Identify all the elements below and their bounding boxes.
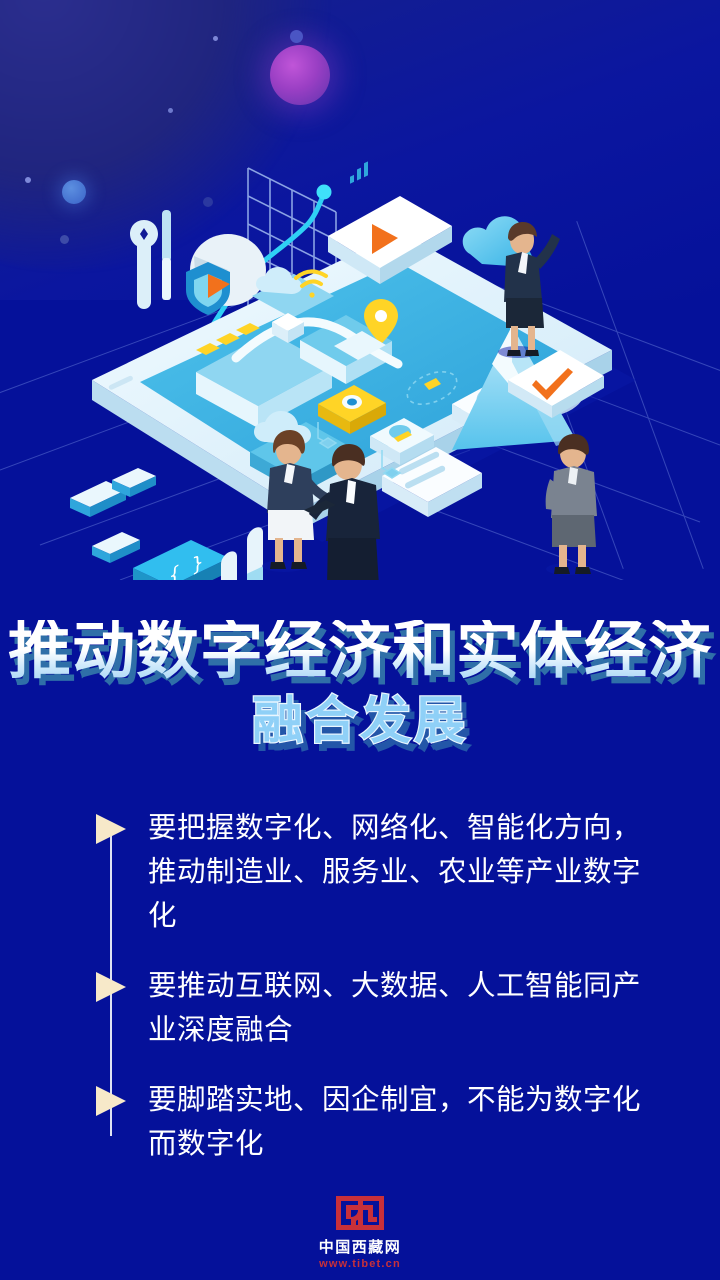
isometric-code-bars	[70, 468, 156, 563]
page-title-line2: 融合发展	[0, 695, 720, 746]
decorative-dot	[168, 108, 173, 113]
footer-logo-block: 中国西藏网 www.tibet.cn	[0, 1196, 720, 1271]
triangle-marker-icon	[96, 972, 126, 1002]
poster-root: { }	[0, 0, 720, 1280]
isometric-digital-economy-illustration: { }	[0, 150, 720, 580]
site-url-label: www.tibet.cn	[0, 1258, 720, 1271]
code-brackets-card: { }	[133, 540, 229, 580]
title-block: 推动数字经济和实体经济 融合发展	[0, 620, 720, 746]
wrench-screwdriver-tools	[130, 210, 171, 309]
site-name-label: 中国西藏网	[0, 1239, 720, 1257]
list-item-text: 要把握数字化、网络化、智能化方向，推动制造业、服务业、农业等产业数字化	[148, 806, 653, 938]
triangle-marker-icon	[96, 1086, 126, 1116]
decorative-dot	[213, 36, 218, 41]
list-item: 要脚踏实地、因企制宜，不能为数字化而数字化	[96, 1078, 666, 1166]
china-tibet-net-logo-icon	[332, 1196, 388, 1238]
bullet-list: 要把握数字化、网络化、智能化方向，推动制造业、服务业、农业等产业数字化 要推动互…	[96, 806, 666, 1166]
list-item-text: 要脚踏实地、因企制宜，不能为数字化而数字化	[148, 1078, 653, 1166]
list-item: 要推动互联网、大数据、人工智能同产业深度融合	[96, 964, 666, 1052]
triangle-marker-icon	[96, 814, 126, 844]
purple-orb-decoration	[270, 45, 330, 105]
list-item-text: 要推动互联网、大数据、人工智能同产业深度融合	[148, 964, 653, 1052]
page-title-line1: 推动数字经济和实体经济	[0, 620, 720, 683]
list-item: 要把握数字化、网络化、智能化方向，推动制造业、服务业、农业等产业数字化	[96, 806, 666, 938]
decorative-dot	[290, 30, 303, 43]
